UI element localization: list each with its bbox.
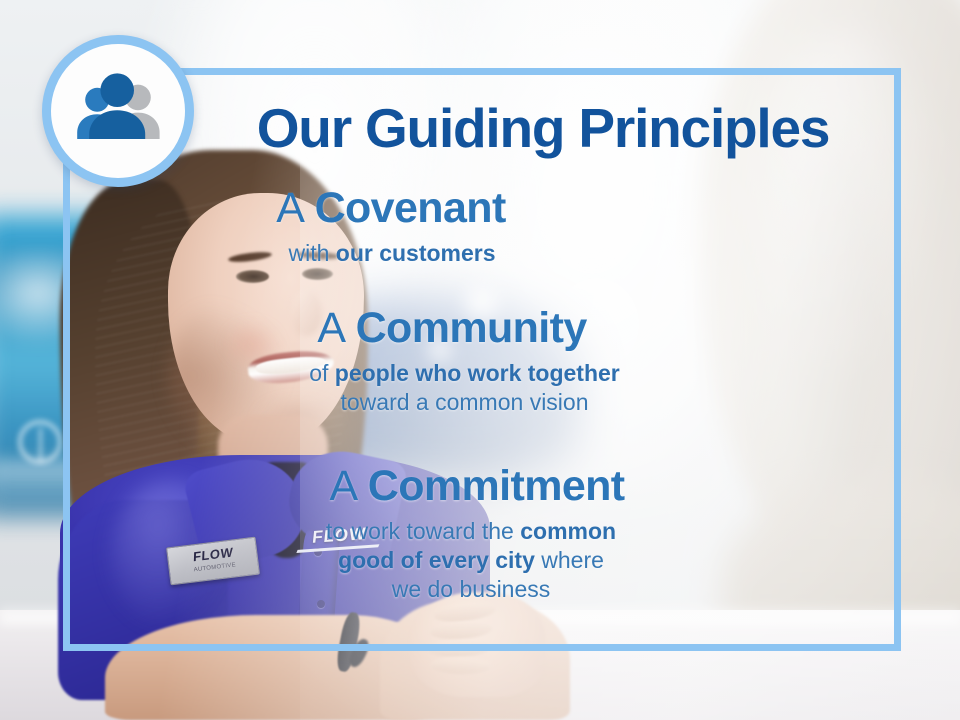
shirt-button xyxy=(317,600,325,608)
eye-right xyxy=(302,268,333,280)
nose xyxy=(292,290,322,336)
customer-hair-strand xyxy=(765,120,885,540)
people-group-icon xyxy=(70,63,166,159)
guiding-principles-graphic: FLOW FLOW AUTOMOTIVE xyxy=(0,0,960,720)
people-badge xyxy=(42,35,194,187)
eye-left xyxy=(236,270,269,283)
